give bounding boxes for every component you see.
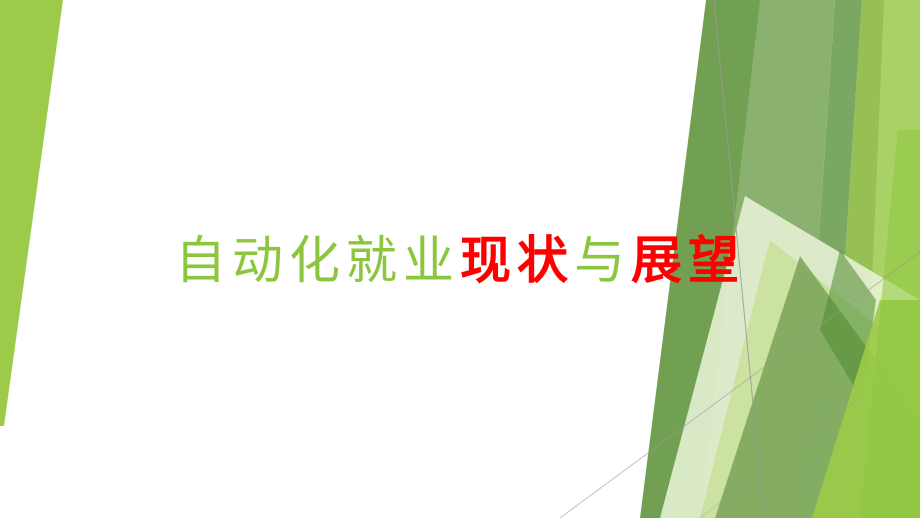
left-accent-wedge <box>0 0 63 426</box>
title-run-1: 自动化就业 <box>175 232 460 291</box>
title-run-3: 与 <box>574 232 631 291</box>
deco-overlay-bright-lower-right <box>812 300 920 518</box>
hairline-diagonal-short <box>700 398 860 518</box>
slide-title: 自动化就业现状与展望 <box>0 236 920 287</box>
title-slide: 自动化就业现状与展望 <box>0 0 920 518</box>
deco-overlay-mid-lower <box>715 256 920 518</box>
title-run-2: 现状 <box>460 232 574 291</box>
hairline-diagonal-shallow <box>560 252 920 518</box>
deco-overlay-bright-edge <box>860 130 920 518</box>
title-run-4: 展望 <box>631 232 745 291</box>
